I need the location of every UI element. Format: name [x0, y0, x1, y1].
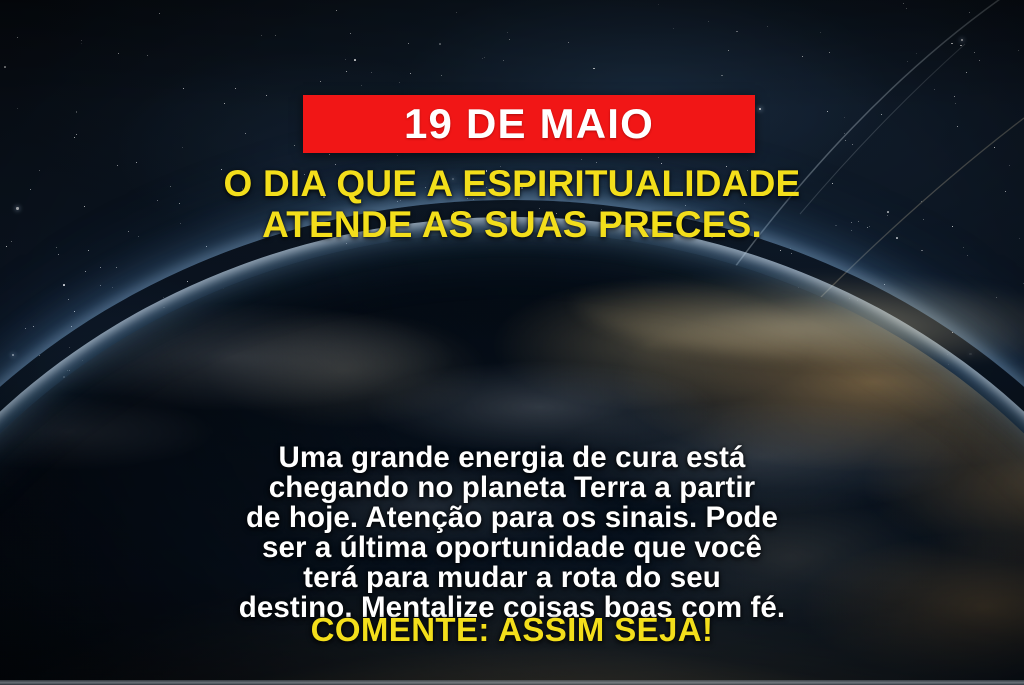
- headline: O DIA QUE A ESPIRITUALIDADE ATENDE AS SU…: [0, 163, 1024, 246]
- date-banner-label: 19 DE MAIO: [404, 103, 654, 145]
- body-copy: Uma grande energia de cura está chegando…: [0, 443, 1024, 623]
- body-line-3: de hoje. Atenção para os sinais. Pode: [0, 503, 1024, 533]
- body-line-5: terá para mudar a rota do seu: [0, 563, 1024, 593]
- poster-content: 19 DE MAIO O DIA QUE A ESPIRITUALIDADE A…: [0, 0, 1024, 685]
- headline-line-1: O DIA QUE A ESPIRITUALIDADE: [0, 163, 1024, 204]
- poster-canvas: 19 DE MAIO O DIA QUE A ESPIRITUALIDADE A…: [0, 0, 1024, 685]
- body-line-1: Uma grande energia de cura está: [0, 443, 1024, 473]
- date-banner: 19 DE MAIO: [303, 95, 755, 153]
- headline-line-2: ATENDE AS SUAS PRECES.: [0, 204, 1024, 245]
- body-line-2: chegando no planeta Terra a partir: [0, 473, 1024, 503]
- call-to-action-label: COMENTE: ASSIM SEJA!: [0, 613, 1024, 646]
- body-line-4: ser a última oportunidade que você: [0, 533, 1024, 563]
